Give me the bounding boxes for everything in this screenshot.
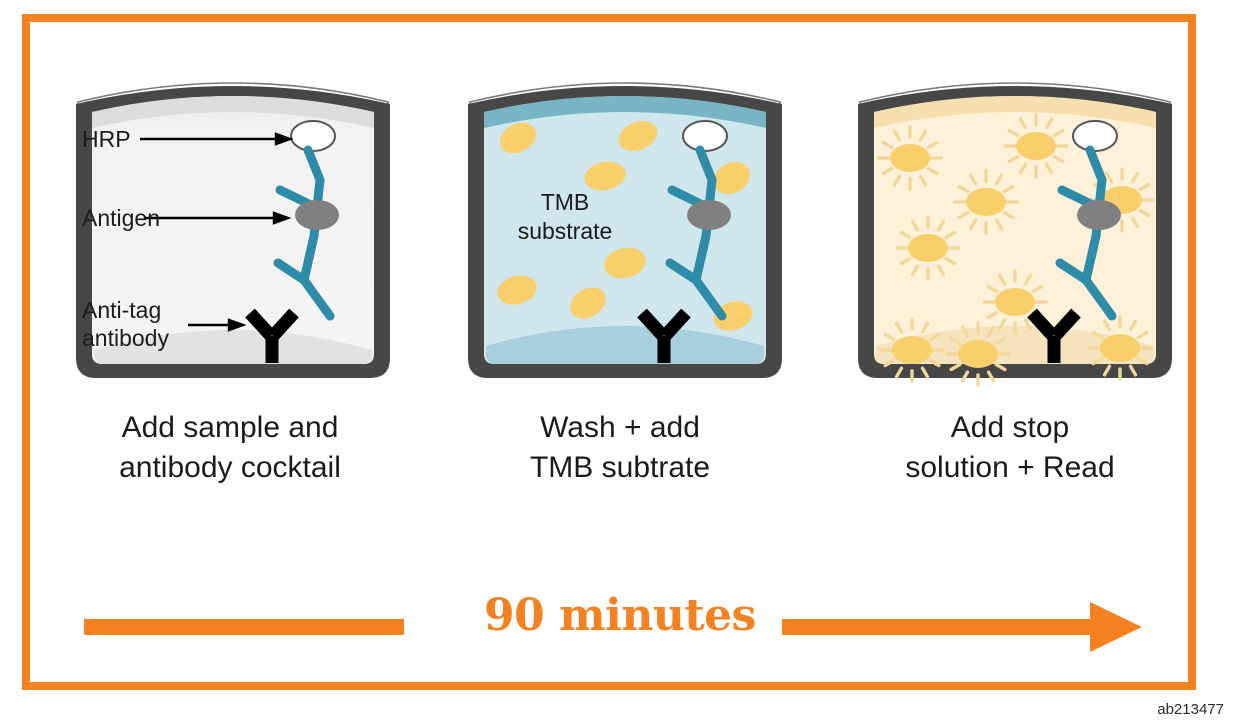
tmb-substrate-label: TMB substrate [460, 188, 670, 246]
hrp-enzyme-icon [1073, 121, 1117, 151]
antigen-label: Antigen [82, 205, 160, 232]
timeline: 90 minutes [60, 588, 1180, 668]
hrp-label: HRP [82, 126, 131, 153]
panel-add-sample: HRP Antigen Anti-tag antibody [68, 58, 398, 398]
antigen-icon [687, 200, 731, 230]
caption-row: Add sample and antibody cocktail Wash + … [60, 408, 1180, 518]
caption-panel-3: Add stop solution + Read [840, 408, 1180, 487]
elisa-workflow-figure: HRP Antigen Anti-tag antibody [0, 0, 1234, 720]
well-diagram-3 [850, 58, 1180, 398]
caption-panel-2: Wash + add TMB subtrate [450, 408, 790, 487]
catalog-code: ab213477 [1157, 701, 1224, 718]
panel-wash-add-tmb: TMB substrate [460, 58, 790, 398]
anti-tag-antibody-label: Anti-tag antibody [82, 296, 169, 352]
panel-row: HRP Antigen Anti-tag antibody [60, 58, 1180, 398]
hrp-enzyme-icon [683, 121, 727, 151]
panel-add-stop-solution [850, 58, 1180, 398]
antigen-icon [1077, 200, 1121, 230]
hrp-enzyme-icon [291, 121, 335, 151]
timeline-duration-label: 90 minutes [60, 588, 1180, 644]
antigen-icon [295, 200, 339, 230]
caption-panel-1: Add sample and antibody cocktail [60, 408, 400, 487]
